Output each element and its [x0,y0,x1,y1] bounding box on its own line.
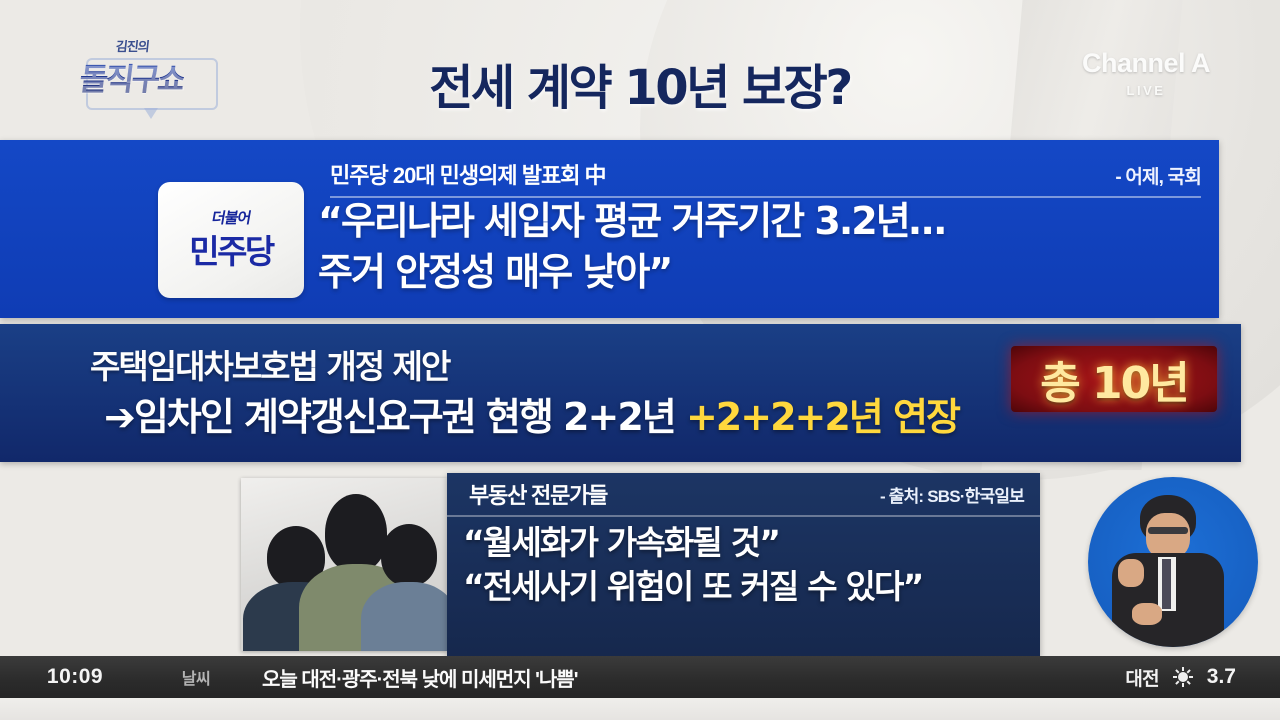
ticker-headline: 오늘 대전·광주·전북 낮에 미세먼지 '나쁨' [242,663,1125,692]
interpreter-tie [1162,559,1171,609]
ticker-weather: 대전 3.7 [1125,664,1280,691]
proposal-banner: 주택임대차보호법 개정 제안 ➔임차인 계약갱신요구권 현행 2+2년 +2+2… [0,324,1241,462]
total-years-badge: 총 10년 [1011,346,1217,412]
interpreter-glasses [1148,527,1188,534]
weather-temperature: 3.7 [1207,665,1236,689]
experts-quote-line2: “전세사기 위험이 또 커질 수 있다” [463,565,1032,609]
silhouette-center-head [325,494,387,572]
silhouette-right-body [361,582,447,651]
proposal-arrow-icon: ➔ [104,395,134,439]
total-years-label: 총 10년 [1040,347,1188,411]
silhouette-right-head [381,524,437,586]
quote-context-row: 민주당 20대 민생의제 발표회 中 - 어제, 국회 [330,158,1201,198]
broadcast-stage: 김진의 돌직구쇼 전세 계약 10년 보장? Channel A LIVE 더불… [0,0,1280,720]
experts-title: 부동산 전문가들 [469,478,607,510]
bottom-edge-strip [0,698,1280,720]
proposal-detail-base: 임차인 계약갱신요구권 현행 2+2년 [134,395,675,439]
network-name: Channel A [1056,48,1236,79]
ticker-clock: 10:09 [0,665,150,689]
experts-quote-line1: “월세화가 가속화될 것” [463,521,1032,565]
weather-city: 대전 [1125,664,1158,691]
party-logo-name: 민주당 [189,225,273,273]
proposal-detail: ➔임차인 계약갱신요구권 현행 2+2년 +2+2+2년 연장 [104,386,959,441]
network-branding: Channel A LIVE [1056,48,1236,98]
proposal-title: 주택임대차보호법 개정 제안 [90,340,449,388]
live-badge: LIVE [1056,83,1236,98]
party-logo: 더불어 민주당 [158,182,304,298]
quote-attribution: - 어제, 국회 [1115,162,1201,189]
experts-header-row: 부동산 전문가들 - 출처: SBS·한국일보 [447,473,1040,517]
interpreter-hand-upper [1118,559,1144,587]
stock-photo-silhouettes [241,478,447,651]
experts-source: - 출처: SBS·한국일보 [880,482,1024,507]
quote-banner: 더불어 민주당 민주당 20대 민생의제 발표회 中 - 어제, 국회 “우리나… [0,140,1219,318]
quote-text-line2: 주거 안정성 매우 낮아” [318,247,1205,298]
experts-quotes: “월세화가 가속화될 것” “전세사기 위험이 또 커질 수 있다” [463,521,1032,609]
quote-text: “우리나라 세입자 평균 거주기간 3.2년… 주거 안정성 매우 낮아” [318,196,1205,297]
experts-banner: 부동산 전문가들 - 출처: SBS·한국일보 “월세화가 가속화될 것” “전… [447,473,1040,657]
interpreter-hand-lower [1132,603,1162,625]
sun-icon [1173,667,1193,687]
news-ticker: 10:09 날씨 오늘 대전·광주·전북 낮에 미세먼지 '나쁨' 대전 3.7 [0,656,1280,698]
party-logo-subtitle: 더불어 [210,207,252,228]
proposal-detail-extension: +2+2+2년 연장 [686,395,959,439]
sign-language-interpreter [1088,477,1258,647]
quote-context: 민주당 20대 민생의제 발표회 中 [330,158,606,190]
ticker-category: 날씨 [150,665,242,689]
quote-text-line1: “우리나라 세입자 평균 거주기간 3.2년… [318,196,1205,247]
